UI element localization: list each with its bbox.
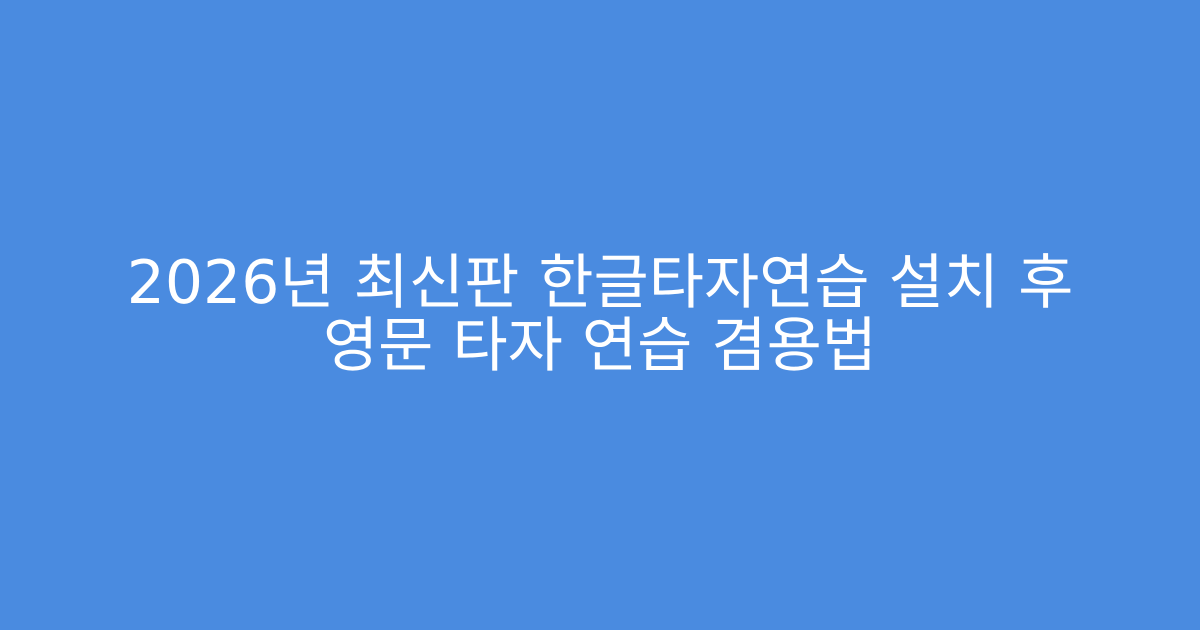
page-title: 2026년 최신판 한글타자연습 설치 후 영문 타자 연습 겸용법 bbox=[110, 252, 1090, 378]
og-card: 2026년 최신판 한글타자연습 설치 후 영문 타자 연습 겸용법 bbox=[0, 0, 1200, 630]
title-block: 2026년 최신판 한글타자연습 설치 후 영문 타자 연습 겸용법 bbox=[100, 252, 1100, 378]
